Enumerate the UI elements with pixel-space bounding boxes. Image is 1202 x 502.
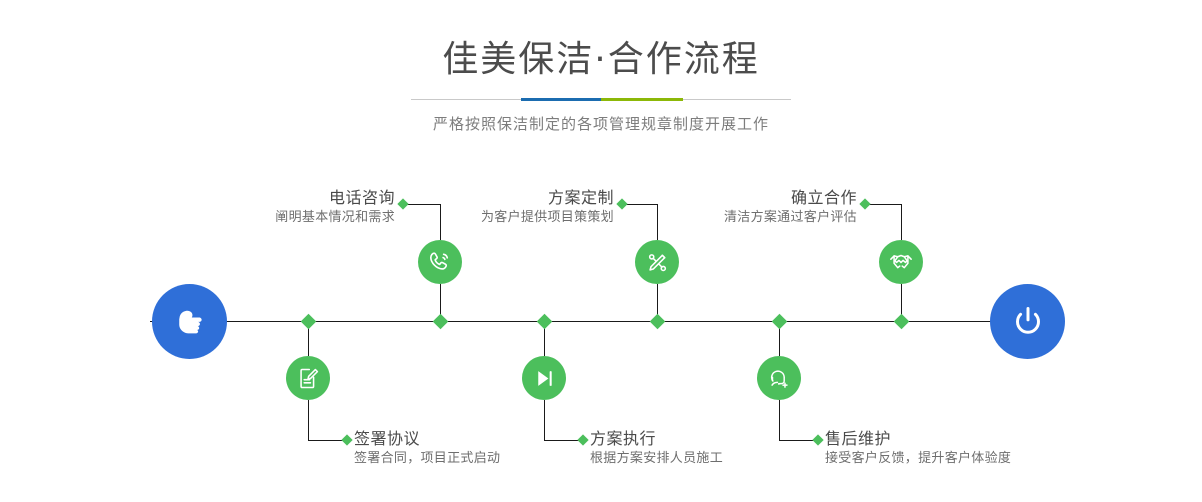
step-node-5[interactable]: [879, 240, 923, 284]
step-diamond-6: [771, 313, 787, 329]
step-elbow-4: [544, 440, 582, 441]
step-desc-6: 接受客户反馈，提升客户体验度: [825, 449, 1105, 469]
step-desc-4: 根据方案安排人员施工: [590, 449, 840, 469]
step-stem-6-lower: [779, 400, 780, 440]
timeline-start-node: [152, 284, 227, 359]
headset-support-icon: [767, 366, 792, 391]
step-desc-2: 签署合同，项目正式启动: [354, 449, 604, 469]
handshake-icon: [888, 249, 914, 275]
timeline-end-node: [990, 284, 1065, 359]
step-node-1[interactable]: [418, 240, 462, 284]
step-node-2[interactable]: [286, 356, 330, 400]
power-icon: [1007, 301, 1049, 343]
step-desc-1: 阐明基本情况和需求: [155, 208, 395, 228]
step-label-5: 确立合作 清洁方案通过客户评估: [615, 188, 857, 228]
step-node-6[interactable]: [757, 356, 801, 400]
step-elbow-2: [308, 440, 346, 441]
step-title-5: 确立合作: [615, 188, 857, 208]
step-node-3[interactable]: [635, 240, 679, 284]
step-label-marker-2: [341, 434, 352, 445]
step-diamond-3: [649, 313, 665, 329]
step-title-3: 方案定制: [375, 188, 614, 208]
step-stem-2-lower: [308, 400, 309, 440]
step-diamond-2: [300, 313, 316, 329]
step-desc-5: 清洁方案通过客户评估: [615, 208, 857, 228]
step-desc-3: 为客户提供项目策策划: [375, 208, 614, 228]
step-label-marker-5: [859, 198, 870, 209]
phone-ringing-icon: [427, 249, 453, 275]
step-label-1: 电话咨询 阐明基本情况和需求: [155, 188, 395, 228]
step-diamond-1: [432, 313, 448, 329]
step-diamond-5: [893, 313, 909, 329]
step-title-4: 方案执行: [590, 429, 840, 449]
process-timeline: 电话咨询 阐明基本情况和需求 签署协议 签署合同，项目正式启动: [0, 0, 1202, 502]
step-label-6: 售后维护 接受客户反馈，提升客户体验度: [825, 429, 1105, 469]
pencil-compass-icon: [645, 250, 670, 275]
step-title-6: 售后维护: [825, 429, 1105, 449]
timeline-axis: [150, 321, 1050, 322]
step-stem-5: [901, 204, 902, 240]
play-skip-icon: [532, 366, 557, 391]
step-stem-4-lower: [544, 400, 545, 440]
step-elbow-6: [779, 440, 817, 441]
step-label-4: 方案执行 根据方案安排人员施工: [590, 429, 840, 469]
document-pencil-icon: [296, 366, 321, 391]
step-label-2: 签署协议 签署合同，项目正式启动: [354, 429, 604, 469]
step-node-4[interactable]: [522, 356, 566, 400]
step-diamond-4: [536, 313, 552, 329]
pointing-hand-icon: [169, 301, 211, 343]
step-label-3: 方案定制 为客户提供项目策策划: [375, 188, 614, 228]
step-title-1: 电话咨询: [155, 188, 395, 208]
step-title-2: 签署协议: [354, 429, 604, 449]
